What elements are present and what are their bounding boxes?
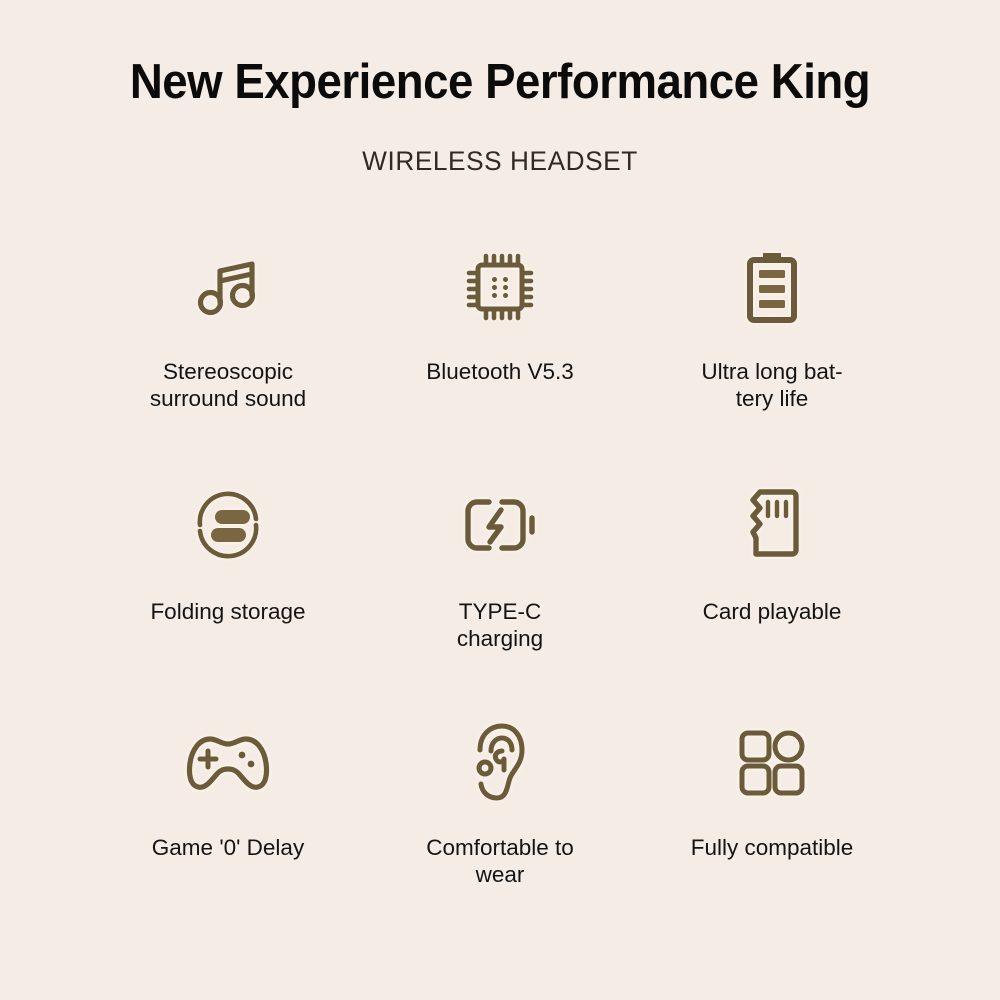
page-title: New Experience Performance King — [35, 58, 965, 107]
feature-grid: Stereoscopic surround sound — [92, 228, 908, 942]
gamepad-icon — [180, 704, 276, 822]
feature-item-typec-charging: TYPE-C charging — [364, 466, 636, 704]
feature-label: Folding storage — [150, 598, 305, 625]
feature-item-stereoscopic-surround-sound: Stereoscopic surround sound — [92, 228, 364, 466]
feature-item-bluetooth-version: Bluetooth V5.3 — [364, 228, 636, 466]
memory-card-icon — [736, 466, 808, 584]
ear-icon — [469, 704, 531, 822]
battery-icon — [739, 228, 805, 346]
feature-item-folding-storage: Folding storage — [92, 466, 364, 704]
page-subtitle: WIRELESS HEADSET — [15, 107, 985, 177]
feature-label: TYPE-C charging — [457, 598, 543, 653]
feature-label: Bluetooth V5.3 — [426, 358, 574, 385]
product-feature-poster: New Experience Performance King WIRELESS… — [0, 0, 1000, 1000]
feature-item-fully-compatible: Fully compatible — [636, 704, 908, 942]
grid-shapes-icon — [734, 704, 810, 822]
poster-header: New Experience Performance King WIRELESS… — [0, 0, 1000, 177]
folding-headphone-icon — [186, 466, 270, 584]
feature-item-comfortable-to-wear: Comfortable to wear — [364, 704, 636, 942]
feature-label: Fully compatible — [691, 834, 854, 861]
feature-label: Ultra long bat- tery life — [701, 358, 842, 413]
feature-item-card-playable: Card playable — [636, 466, 908, 704]
feature-label: Stereoscopic surround sound — [150, 358, 306, 413]
feature-label: Game '0' Delay — [152, 834, 304, 861]
feature-label: Comfortable to wear — [426, 834, 574, 889]
chip-icon — [461, 228, 539, 346]
feature-item-battery-life: Ultra long bat- tery life — [636, 228, 908, 466]
feature-item-game-zero-delay: Game '0' Delay — [92, 704, 364, 942]
charging-battery-icon — [456, 466, 544, 584]
feature-label: Card playable — [703, 598, 842, 625]
music-note-icon — [190, 228, 266, 346]
